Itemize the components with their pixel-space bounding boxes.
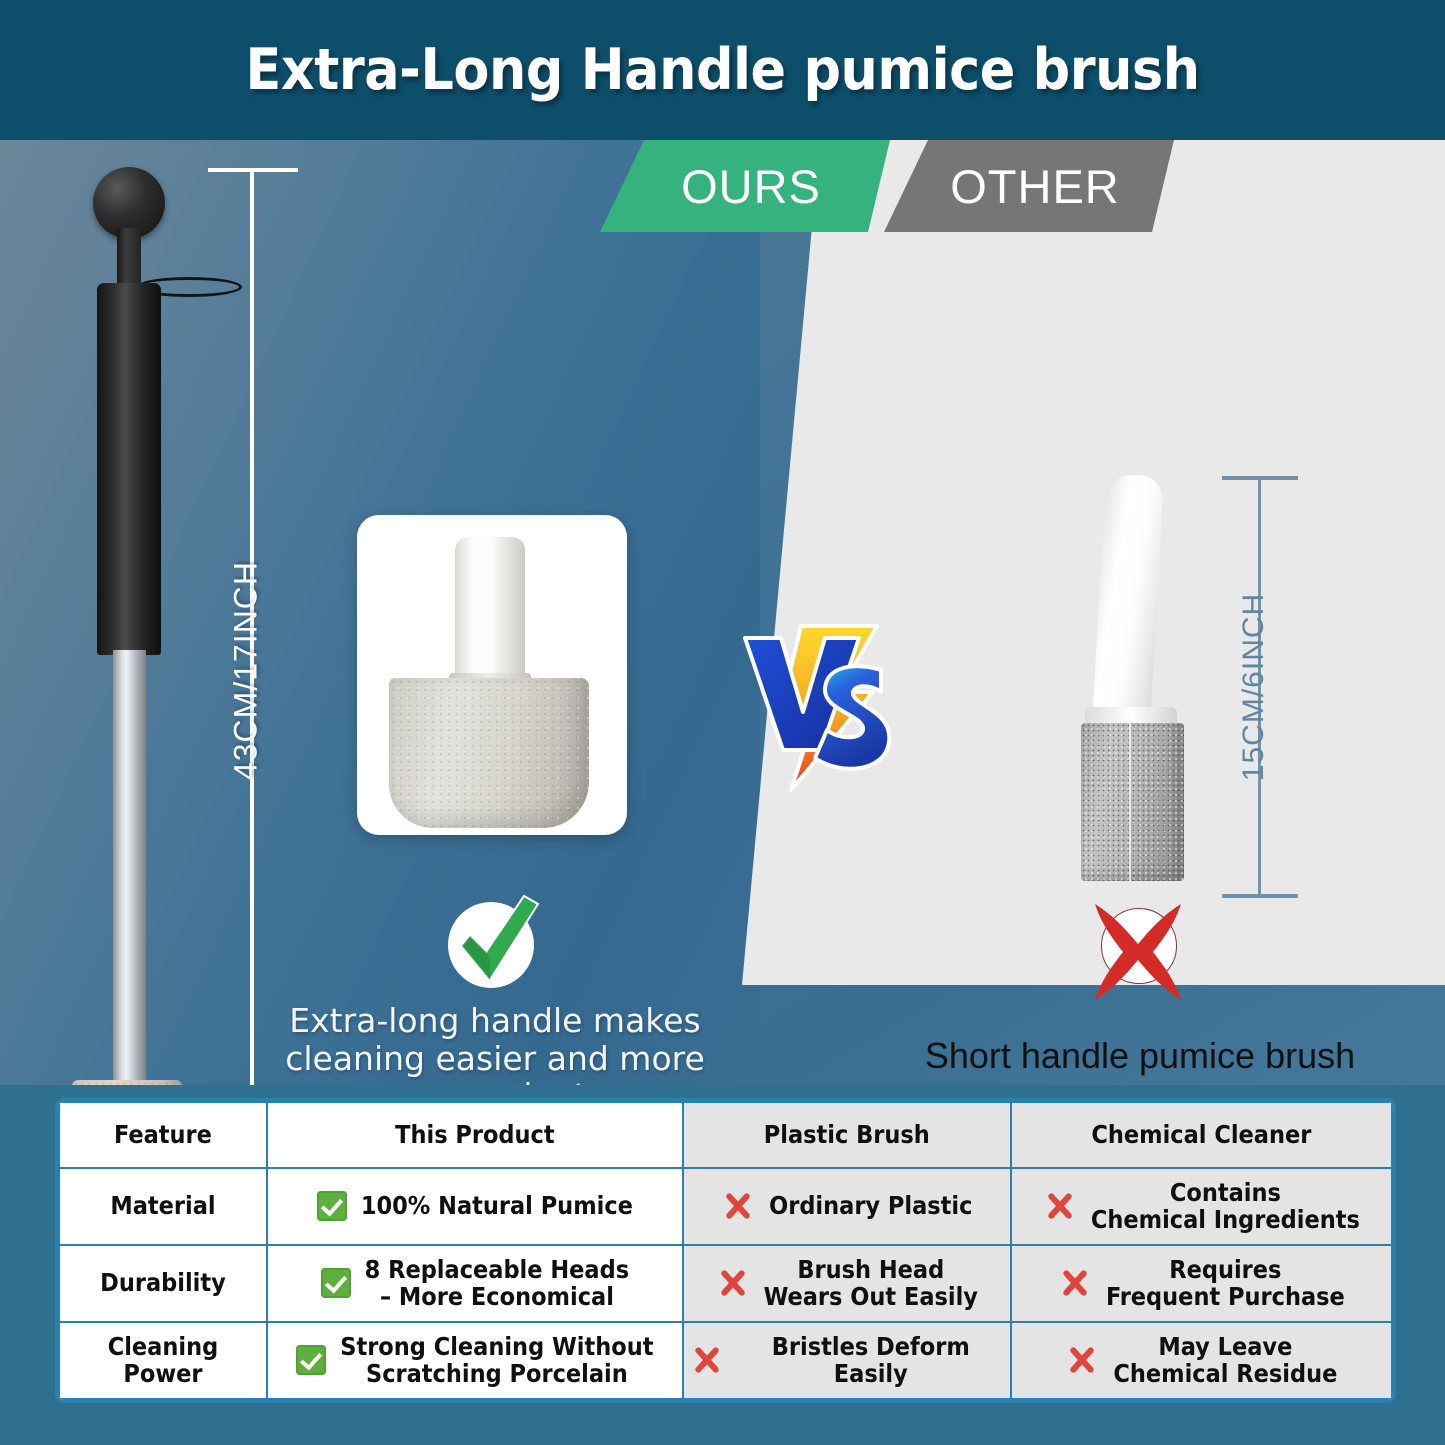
cell-text: RequiresFrequent Purchase (1106, 1256, 1345, 1311)
right-panel-caption: Short handle pumice brush (810, 1035, 1445, 1077)
cell-text: Brush HeadWears Out Easily (764, 1256, 978, 1311)
cell-text: ContainsChemical Ingredients (1091, 1179, 1360, 1234)
header-banner: Extra-Long Handle pumice brush (0, 0, 1445, 140)
red-cross-icon (1083, 900, 1193, 1005)
cell-plastic-brush-material: Ordinary Plastic (683, 1168, 1011, 1245)
cross-icon (721, 1189, 755, 1223)
cell-chemical-cleaner-material: ContainsChemical Ingredients (1011, 1168, 1392, 1245)
cross-icon (1043, 1189, 1077, 1223)
row-feature-durability: Durability (59, 1245, 267, 1322)
cell-text: Strong Cleaning WithoutScratching Porcel… (340, 1333, 653, 1388)
left-dimension-caliper: 43CM/17INCH (198, 162, 268, 1085)
cross-mark-glyph (1083, 900, 1193, 1005)
check-icon (296, 1345, 326, 1375)
short-handle-brush-illustration (1063, 475, 1223, 895)
right-dimension-caliper: 15CM/6INCH (1212, 472, 1292, 902)
comparison-table-element: Feature This Product Plastic Brush Chemi… (58, 1101, 1393, 1400)
comparison-table: Feature This Product Plastic Brush Chemi… (55, 1098, 1396, 1403)
cell-text: May LeaveChemical Residue (1113, 1333, 1337, 1388)
check-icon (317, 1191, 347, 1221)
col-header-plastic-brush: Plastic Brush (683, 1102, 1011, 1168)
table-row: Cleaning Power Strong Cleaning WithoutSc… (59, 1322, 1392, 1399)
short-brush-handle (1092, 475, 1164, 725)
row-feature-material: Material (59, 1168, 267, 1245)
cell-text: Ordinary Plastic (769, 1192, 972, 1220)
cell-plastic-brush-durability: Brush HeadWears Out Easily (683, 1245, 1011, 1322)
left-panel-caption: Extra-long handle makes cleaning easier … (265, 1002, 725, 1085)
cell-text: 8 Replaceable Heads– More Economical (365, 1256, 629, 1311)
brush-neck (117, 228, 141, 288)
cross-icon (716, 1266, 750, 1300)
col-header-this-product: This Product (267, 1102, 683, 1168)
cell-text: Bristles Deform Easily (738, 1333, 1004, 1388)
cell-text: 100% Natural Pumice (361, 1192, 633, 1220)
short-brush-pumice-block (1081, 723, 1184, 881)
brush-grip (97, 283, 161, 655)
green-check-icon (438, 890, 546, 998)
cross-icon (690, 1343, 724, 1377)
brush-steel-shaft (113, 650, 146, 1085)
caliper-bottom-cap (1222, 894, 1298, 898)
check-mark-glyph (438, 890, 546, 998)
cell-chemical-cleaner-cleaning-power: May LeaveChemical Residue (1011, 1322, 1392, 1399)
left-dimension-label: 43CM/17INCH (228, 471, 265, 871)
table-row: Material 100% Natural Pumice Ordinary Pl… (59, 1168, 1392, 1245)
other-label: OTHER (950, 159, 1120, 214)
right-dimension-label: 15CM/6INCH (1237, 537, 1271, 837)
cross-icon (1058, 1266, 1092, 1300)
versus-lightning-icon (735, 600, 925, 800)
cell-this-product-durability: 8 Replaceable Heads– More Economical (267, 1245, 683, 1322)
cell-plastic-brush-cleaning-power: Bristles Deform Easily (683, 1322, 1011, 1399)
cross-icon (1065, 1343, 1099, 1377)
page-title: Extra-Long Handle pumice brush (245, 37, 1199, 103)
product-head-card (357, 515, 627, 835)
infographic-page: Extra-Long Handle pumice brush OURS OTHE… (0, 0, 1445, 1445)
row-feature-cleaning-power: Cleaning Power (59, 1322, 267, 1399)
table-header-row: Feature This Product Plastic Brush Chemi… (59, 1102, 1392, 1168)
col-header-chemical-cleaner: Chemical Cleaner (1011, 1102, 1392, 1168)
table-body: Material 100% Natural Pumice Ordinary Pl… (59, 1168, 1392, 1399)
card-plastic-connector (455, 537, 525, 679)
cell-this-product-material: 100% Natural Pumice (267, 1168, 683, 1245)
table-row: Durability 8 Replaceable Heads– More Eco… (59, 1245, 1392, 1322)
check-icon (321, 1268, 351, 1298)
hero-comparison-area: OURS OTHER 43CM/17INCH (0, 140, 1445, 1085)
vs-logo-svg (735, 600, 925, 800)
col-header-feature: Feature (59, 1102, 267, 1168)
other-band: OTHER (884, 140, 1174, 232)
ours-band: OURS (600, 140, 890, 232)
ours-label: OURS (681, 159, 821, 214)
cell-this-product-cleaning-power: Strong Cleaning WithoutScratching Porcel… (267, 1322, 683, 1399)
table-header: Feature This Product Plastic Brush Chemi… (59, 1102, 1392, 1168)
brush-pumice-head (72, 1080, 182, 1085)
cell-chemical-cleaner-durability: RequiresFrequent Purchase (1011, 1245, 1392, 1322)
short-brush-stone-edge (1129, 723, 1131, 881)
card-pumice-stone (389, 678, 589, 828)
